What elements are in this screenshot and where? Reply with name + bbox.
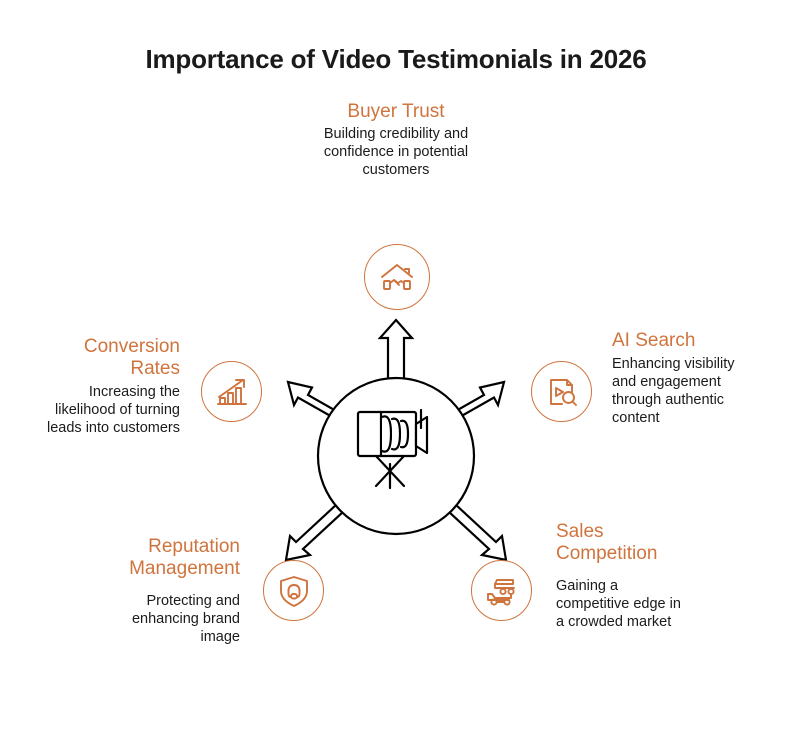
shield-headset-icon [263,560,324,621]
race-cars-icon [471,560,532,621]
node-heading-sales-competition: Sales Competition [556,521,686,565]
node-conversion-rates: Conversion Rates Increasing the likeliho… [47,336,180,437]
node-sales-competition: Sales Competition Gaining a competitive … [556,521,686,631]
node-ai-search: AI Search Enhancing visibility and engag… [612,330,742,427]
infographic-canvas: Importance of Video Testimonials in 2026 [0,0,792,739]
node-heading-conversion-rates: Conversion Rates [47,336,180,380]
node-body-sales-competition: Gaining a competitive edge in a crowded … [556,577,686,631]
node-reputation-management: Reputation Management Protecting and enh… [110,536,240,646]
document-play-search-icon [531,361,592,422]
node-heading-buyer-trust: Buyer Trust [316,101,476,123]
node-body-conversion-rates: Increasing the likelihood of turning lea… [47,383,180,437]
node-heading-reputation-management: Reputation Management [110,536,240,580]
hub-diagram [276,316,516,566]
node-heading-ai-search: AI Search [612,330,742,352]
page-title: Importance of Video Testimonials in 2026 [0,44,792,75]
house-handshake-icon [364,244,430,310]
growth-bar-chart-icon [201,361,262,422]
node-body-ai-search: Enhancing visibility and engagement thro… [612,355,742,427]
node-body-buyer-trust: Building credibility and confidence in p… [316,125,476,179]
central-hub [276,316,516,566]
node-body-reputation-management: Protecting and enhancing brand image [110,592,240,646]
node-buyer-trust: Buyer Trust Building credibility and con… [316,101,476,179]
